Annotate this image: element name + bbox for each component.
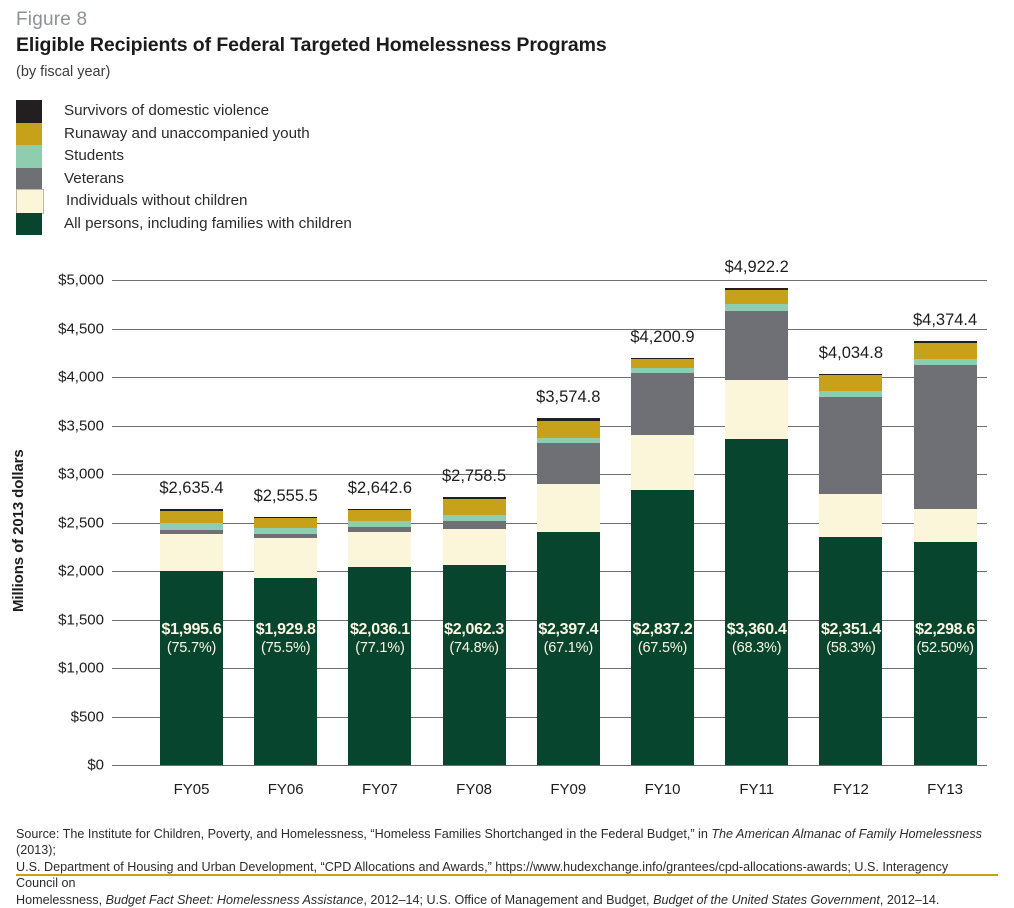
bar-segment-individuals[interactable] [819,375,882,391]
bar-base-percent: (75.7%) [160,641,223,656]
bar-inline-label: $2,062.3(74.8%) [443,622,506,656]
bar-inline-label: $2,351.4(58.3%) [819,622,882,656]
bar-base-percent: (58.3%) [819,641,882,656]
gridline [112,765,987,766]
bar-segment-veterans[interactable] [443,515,506,521]
chart-plot-area: $5,000$4,500$4,000$3,500$3,000$2,500$2,0… [0,0,1014,885]
bar-fy08[interactable] [443,280,506,765]
bar-base-value: $2,298.6 [914,622,977,639]
bar-inline-label: $1,929.8(75.5%) [254,622,317,656]
bar-segment-domestic_violence[interactable] [348,567,411,765]
x-axis-tick-label-fy12: FY12 [801,781,901,798]
bar-segment-individuals[interactable] [725,290,788,304]
bar-total-label: $4,922.2 [687,258,827,277]
bar-base-value: $2,062.3 [443,622,506,639]
y-axis-tick-label: $1,000 [12,660,104,677]
y-axis-title: Millions of 2013 dollars [10,449,27,612]
bar-inline-label: $1,995.6(75.7%) [160,622,223,656]
bar-segment-veterans[interactable] [914,359,977,365]
y-axis-tick-label: $4,500 [12,320,104,337]
bar-segment-students[interactable] [819,397,882,494]
bar-total-label: $2,758.5 [404,467,544,486]
bar-total-label: $4,374.4 [875,311,1014,330]
x-axis-tick-label-fy11: FY11 [707,781,807,798]
bar-base-percent: (67.1%) [537,641,600,656]
bar-fy10[interactable] [631,280,694,765]
bar-total-label: $4,034.8 [781,344,921,363]
bar-segment-students[interactable] [725,311,788,381]
bar-segment-veterans[interactable] [537,438,600,443]
bar-segment-individuals[interactable] [348,510,411,522]
y-axis-tick-label: $5,000 [12,272,104,289]
bar-fy05[interactable] [160,280,223,765]
bar-segment-individuals[interactable] [160,511,223,523]
source-line3-c: , 2012–14. [880,893,940,907]
bar-segment-students[interactable] [443,521,506,528]
bar-segment-students[interactable] [914,365,977,509]
bar-segment-all_persons[interactable] [254,517,317,518]
source-note-line-1: Source: The Institute for Children, Pove… [16,826,991,859]
bar-base-percent: (68.3%) [725,641,788,656]
x-axis-tick-label-fy10: FY10 [613,781,713,798]
bar-segment-all_persons[interactable] [819,374,882,376]
bar-inline-label: $2,036.1(77.1%) [348,622,411,656]
bar-segment-runaway_youth[interactable] [443,529,506,565]
source-note: Source: The Institute for Children, Pove… [16,826,991,908]
bar-segment-all_persons[interactable] [725,288,788,290]
source-line1-a: Source: The Institute for Children, Pove… [16,827,711,841]
source-line3-b: , 2012–14; U.S. Office of Management and… [363,893,653,907]
bar-base-value: $1,929.8 [254,622,317,639]
bar-segment-students[interactable] [537,443,600,484]
bar-fy13[interactable] [914,280,977,765]
bar-total-label: $4,200.9 [593,328,733,347]
bar-segment-runaway_youth[interactable] [819,494,882,537]
bar-base-percent: (67.5%) [631,641,694,656]
bar-segment-runaway_youth[interactable] [631,435,694,489]
bar-segment-veterans[interactable] [819,391,882,397]
bar-segment-veterans[interactable] [631,368,694,374]
bar-inline-label: $2,397.4(67.1%) [537,622,600,656]
bar-inline-label: $3,360.4(68.3%) [725,622,788,656]
bar-segment-runaway_youth[interactable] [160,534,223,572]
bar-segment-veterans[interactable] [725,304,788,311]
source-line3-italic-1: Budget Fact Sheet: Homelessness Assistan… [106,893,364,907]
y-axis-tick-label: $4,000 [12,369,104,386]
bar-segment-runaway_youth[interactable] [254,538,317,578]
bottom-rule [16,874,998,876]
source-line3-a: Homelessness, [16,893,106,907]
bar-base-percent: (74.8%) [443,641,506,656]
bar-segment-all_persons[interactable] [160,509,223,511]
bar-segment-students[interactable] [348,527,411,531]
bar-base-percent: (52.50%) [914,641,977,656]
bar-inline-label: $2,837.2(67.5%) [631,622,694,656]
bar-base-value: $3,360.4 [725,622,788,639]
bar-total-label: $3,574.8 [498,388,638,407]
bar-segment-individuals[interactable] [631,359,694,368]
bar-segment-runaway_youth[interactable] [537,484,600,533]
bar-base-value: $2,351.4 [819,622,882,639]
bar-base-percent: (75.5%) [254,641,317,656]
figure-container: Figure 8 Eligible Recipients of Federal … [0,0,1014,885]
bar-segment-domestic_violence[interactable] [160,571,223,765]
source-line1-b: (2013); [16,843,56,857]
y-axis-tick-label: $500 [12,708,104,725]
bar-base-value: $2,397.4 [537,622,600,639]
bar-segment-students[interactable] [160,530,223,534]
x-axis-tick-label-fy08: FY08 [424,781,524,798]
y-axis-ticks: $5,000$4,500$4,000$3,500$3,000$2,500$2,0… [0,0,104,885]
bar-fy06[interactable] [254,280,317,765]
bar-segment-veterans[interactable] [254,528,317,534]
x-axis-tick-label-fy07: FY07 [330,781,430,798]
x-axis-tick-label-fy09: FY09 [518,781,618,798]
source-line1-italic: The American Almanac of Family Homelessn… [711,827,982,841]
bar-segment-all_persons[interactable] [348,509,411,510]
bar-base-percent: (77.1%) [348,641,411,656]
bar-segment-individuals[interactable] [537,421,600,438]
y-axis-tick-label: $1,500 [12,611,104,628]
bar-segment-all_persons[interactable] [537,418,600,421]
bar-segment-domestic_violence[interactable] [443,565,506,765]
bar-segment-domestic_violence[interactable] [725,439,788,765]
bar-segment-veterans[interactable] [348,521,411,527]
bar-fy11[interactable] [725,280,788,765]
bar-segment-individuals[interactable] [914,343,977,359]
bar-segment-runaway_youth[interactable] [348,532,411,568]
bar-segment-all_persons[interactable] [443,497,506,499]
bar-segment-runaway_youth[interactable] [914,509,977,542]
bar-base-value: $2,837.2 [631,622,694,639]
source-line3-italic-2: Budget of the United States Government [653,893,880,907]
bar-segment-veterans[interactable] [160,523,223,529]
bar-fy09[interactable] [537,280,600,765]
bar-segment-students[interactable] [631,373,694,435]
y-axis-tick-label: $0 [12,757,104,774]
x-axis-tick-label-fy06: FY06 [236,781,336,798]
bar-base-value: $2,036.1 [348,622,411,639]
source-note-line-3: Homelessness, Budget Fact Sheet: Homeles… [16,892,991,908]
bar-segment-students[interactable] [254,534,317,538]
bar-segment-domestic_violence[interactable] [254,578,317,765]
bar-base-value: $1,995.6 [160,622,223,639]
bar-segment-runaway_youth[interactable] [725,380,788,439]
y-axis-tick-label: $3,500 [12,417,104,434]
x-axis-tick-label-fy05: FY05 [142,781,242,798]
bar-segment-all_persons[interactable] [631,358,694,359]
bar-segment-individuals[interactable] [254,518,317,528]
bar-fy07[interactable] [348,280,411,765]
bar-segment-all_persons[interactable] [914,341,977,344]
bar-inline-label: $2,298.6(52.50%) [914,622,977,656]
x-axis-tick-label-fy13: FY13 [895,781,995,798]
bar-segment-individuals[interactable] [443,499,506,515]
